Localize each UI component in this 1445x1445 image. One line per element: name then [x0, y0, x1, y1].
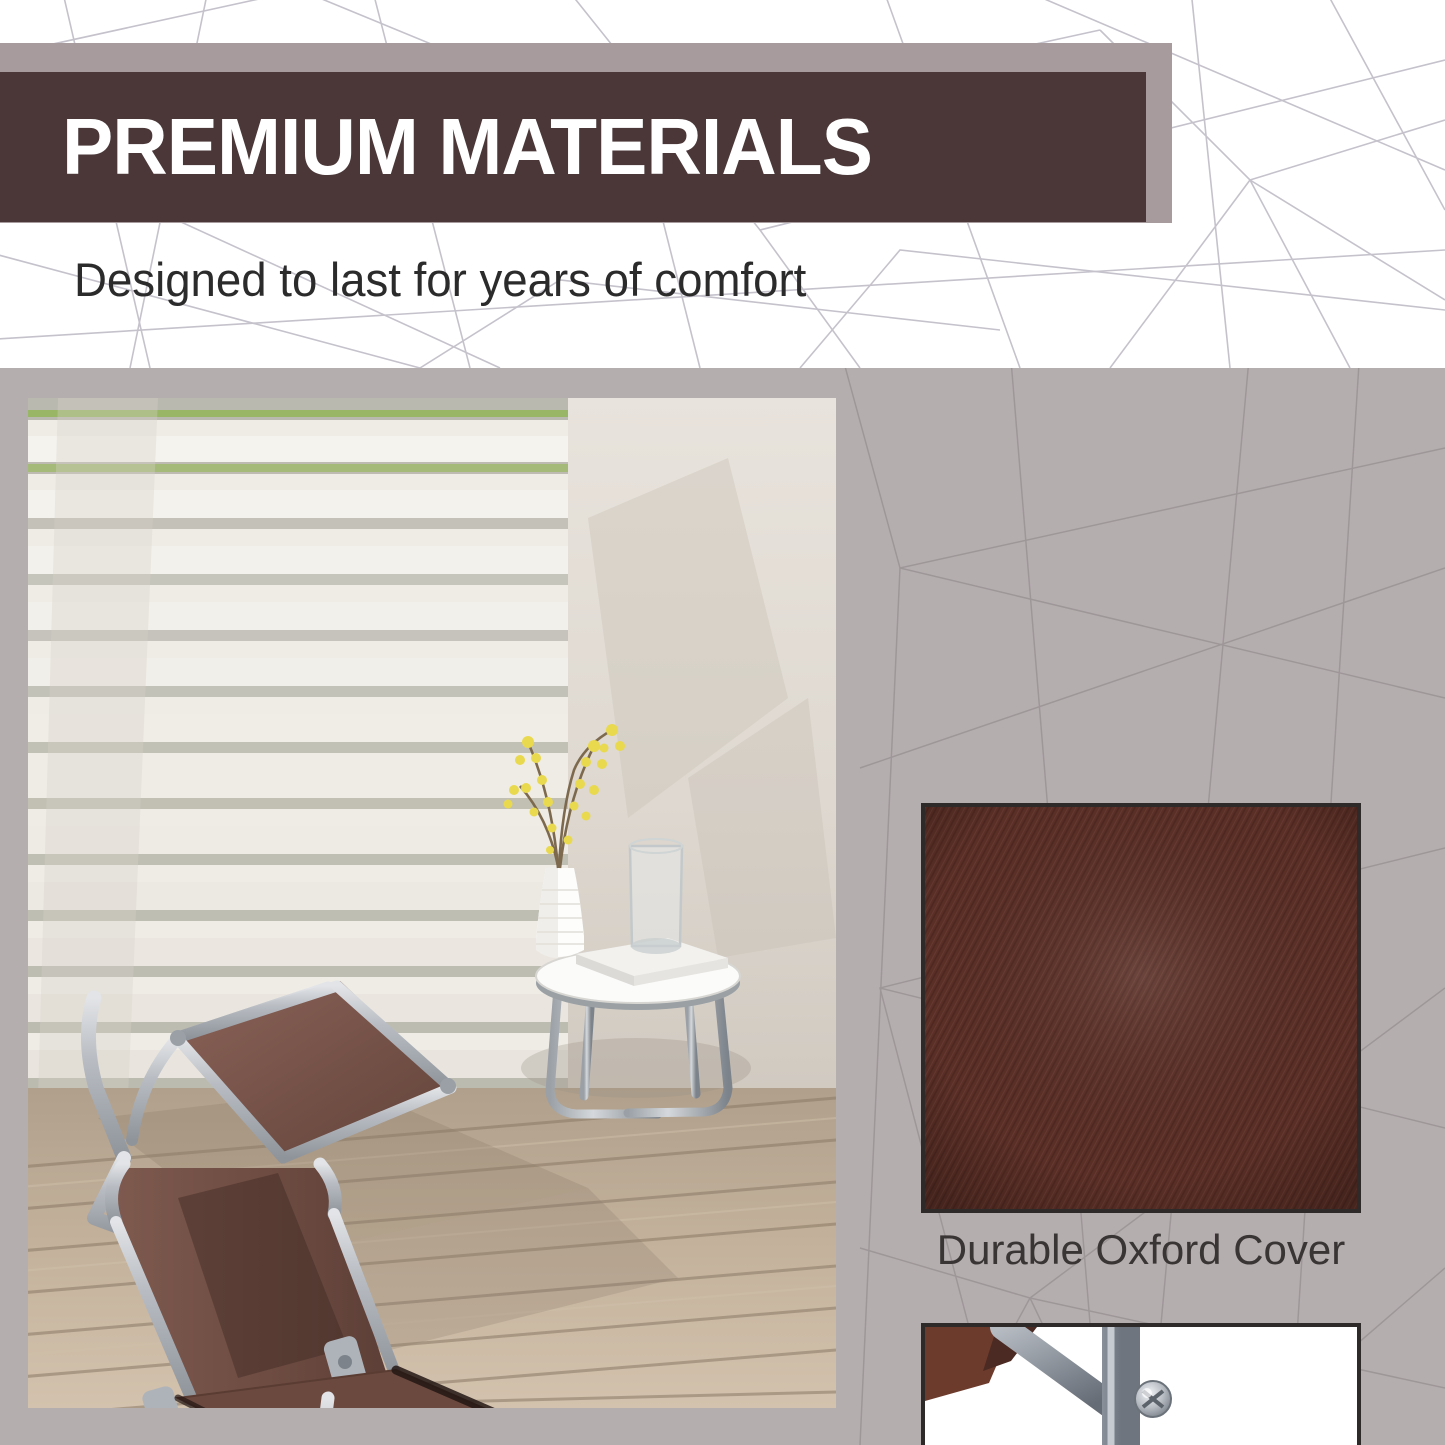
content-band: Durable Oxford Cover — [0, 368, 1445, 1445]
metal-frame-closeup-frame — [921, 1323, 1361, 1445]
feature-card-metal-frame: Metal Frame — [921, 1323, 1361, 1445]
title-banner: PREMIUM MATERIALS — [0, 72, 1146, 222]
page-subtitle: Designed to last for years of comfort — [74, 252, 806, 307]
page-title: PREMIUM MATERIALS — [62, 107, 872, 187]
oxford-cover-caption: Durable Oxford Cover — [921, 1215, 1361, 1285]
hero-product-photo — [28, 398, 836, 1408]
metal-tube-joint-icon — [925, 1327, 1357, 1445]
feature-card-oxford-cover: Durable Oxford Cover — [921, 803, 1361, 1285]
oxford-fabric-swatch-frame — [921, 803, 1361, 1213]
fabric-swatch-icon — [925, 807, 1357, 1209]
header-band: PREMIUM MATERIALS Designed to last for y… — [0, 0, 1445, 368]
hero-scene-illustration — [28, 398, 836, 1408]
infographic-canvas: PREMIUM MATERIALS Designed to last for y… — [0, 0, 1445, 1445]
